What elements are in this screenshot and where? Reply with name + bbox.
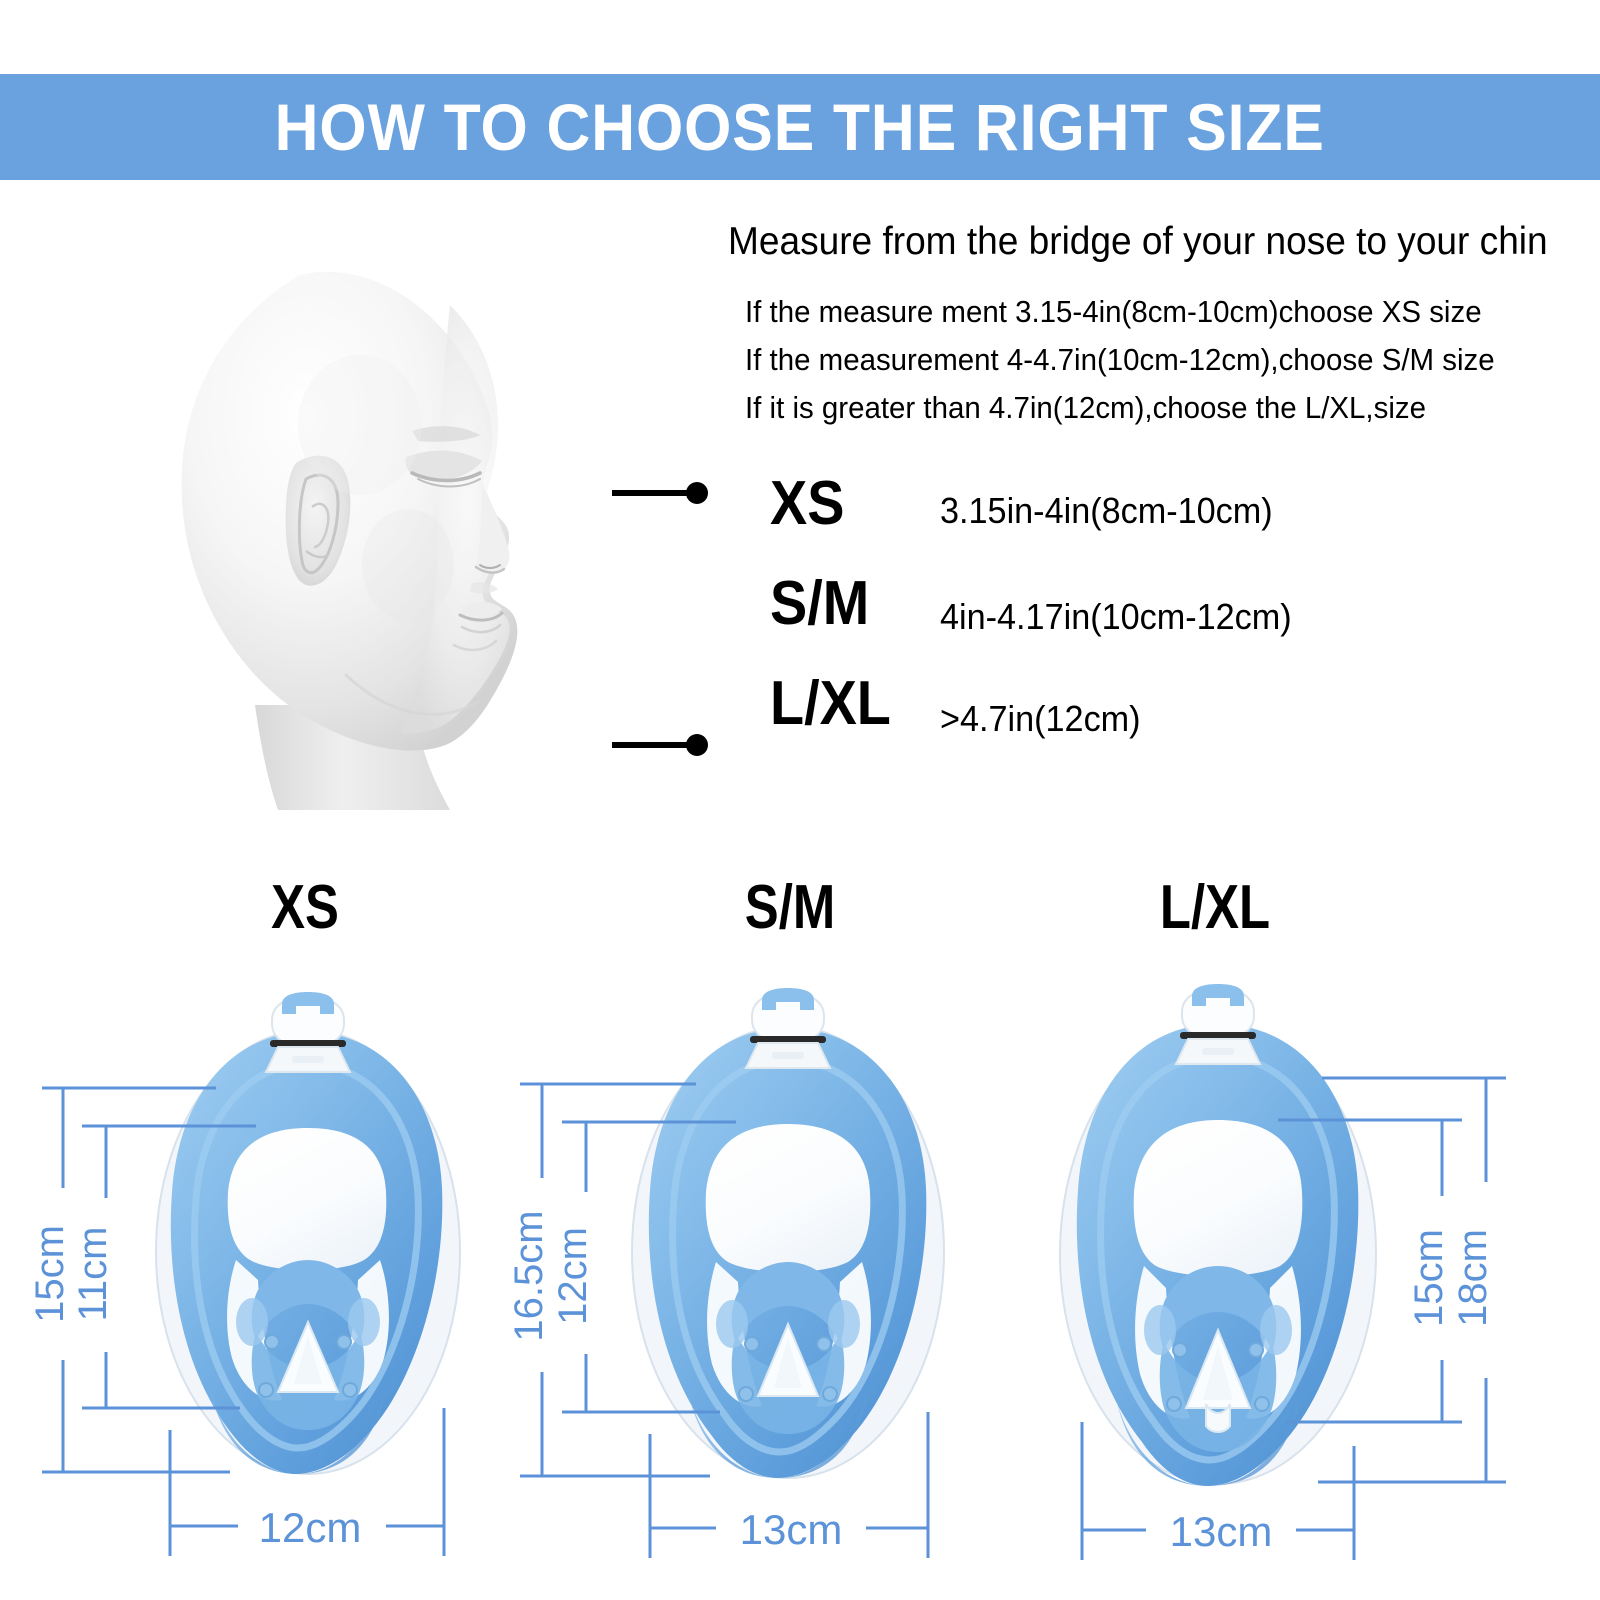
size-code-lxl: L/XL xyxy=(770,668,914,740)
mask-panel-lxl: 15cm 18cm 13cm xyxy=(1000,960,1520,1580)
dimension-inner-height-sm: 12cm xyxy=(551,1227,595,1325)
mask-panel-xs: 15cm 11cm 12cm xyxy=(20,960,540,1580)
mask-column-heading-xs: XS xyxy=(223,872,387,943)
size-table: XS 3.15in-4in(8cm-10cm) S/M 4in-4.17in(1… xyxy=(770,468,1590,768)
instructions-heading: Measure from the bridge of your nose to … xyxy=(728,220,1545,264)
dimension-width-xs: 12cm xyxy=(259,1504,362,1551)
dimension-inner-height-lxl: 15cm xyxy=(1407,1229,1451,1327)
size-row-sm: S/M 4in-4.17in(10cm-12cm) xyxy=(770,568,1590,668)
dimension-outer-height-sm: 16.5cm xyxy=(510,1210,551,1341)
chin-leader-dot xyxy=(686,734,708,756)
nose-bridge-leader-dot xyxy=(686,482,708,504)
instruction-line-2: If the measurement 4-4.7in(10cm-12cm),ch… xyxy=(745,336,1562,384)
dimension-width-sm: 13cm xyxy=(740,1506,843,1553)
instruction-line-1: If the measure ment 3.15-4in(8cm-10cm)ch… xyxy=(745,288,1562,336)
size-code-sm: S/M xyxy=(770,568,914,640)
mask-panel-sm: 16.5cm 12cm 13cm xyxy=(510,960,1030,1580)
mask-column-heading-lxl: L/XL xyxy=(1129,872,1301,943)
dimension-inner-height-xs: 11cm xyxy=(71,1227,115,1322)
size-row-lxl: L/XL >4.7in(12cm) xyxy=(770,668,1590,768)
header-banner: HOW TO CHOOSE THE RIGHT SIZE xyxy=(0,74,1600,180)
size-range-lxl: >4.7in(12cm) xyxy=(940,698,1529,740)
instruction-line-3: If it is greater than 4.7in(12cm),choose… xyxy=(745,384,1562,432)
size-row-xs: XS 3.15in-4in(8cm-10cm) xyxy=(770,468,1590,568)
size-code-xs: XS xyxy=(770,468,914,540)
mannequin-head-image xyxy=(150,235,650,810)
instructions-list: If the measure ment 3.15-4in(8cm-10cm)ch… xyxy=(745,288,1600,432)
mask-column-heading-sm: S/M xyxy=(708,872,872,943)
dimension-outer-height-xs: 15cm xyxy=(28,1225,72,1323)
dimension-outer-height-lxl: 18cm xyxy=(1451,1229,1495,1327)
page-title: HOW TO CHOOSE THE RIGHT SIZE xyxy=(275,89,1325,165)
size-range-sm: 4in-4.17in(10cm-12cm) xyxy=(940,596,1529,638)
dimension-width-lxl: 13cm xyxy=(1170,1508,1273,1555)
size-range-xs: 3.15in-4in(8cm-10cm) xyxy=(940,490,1529,532)
